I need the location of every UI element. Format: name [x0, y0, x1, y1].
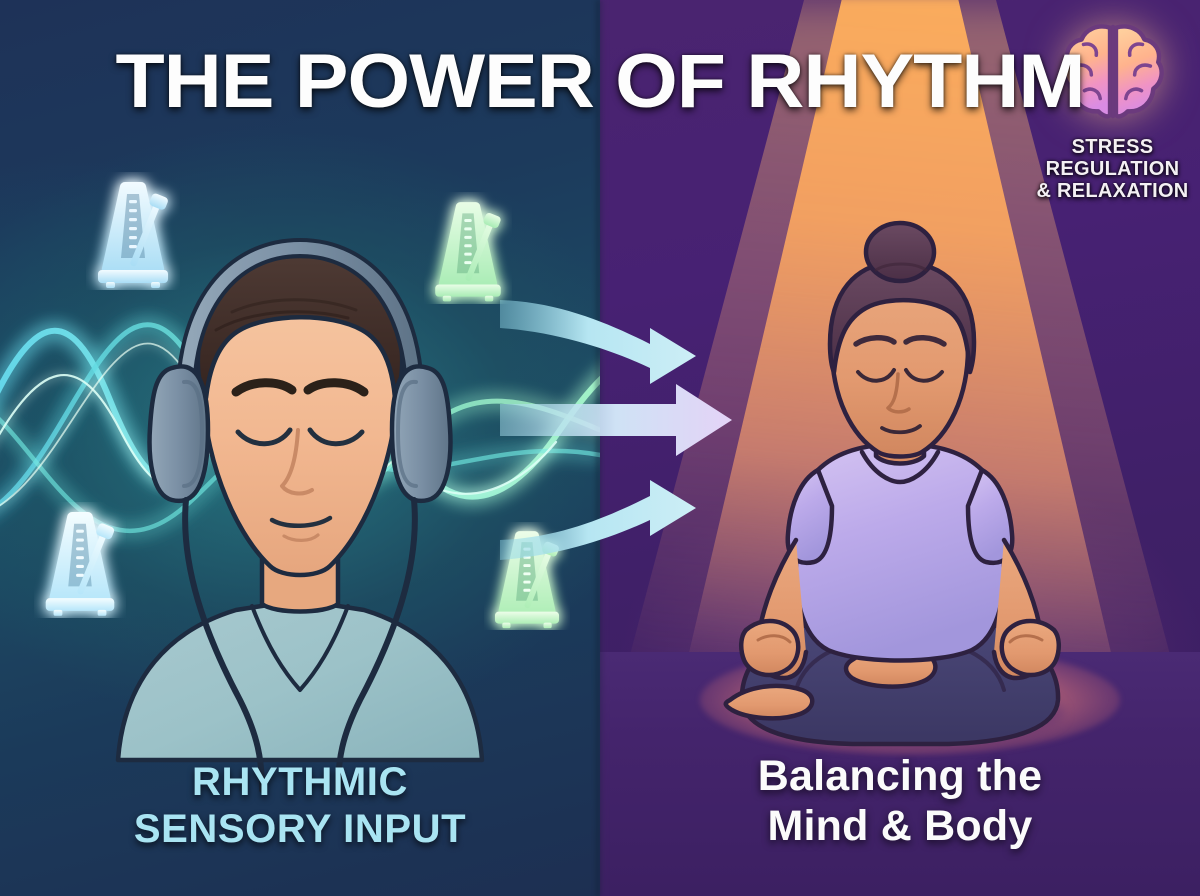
arrow-bottom [500, 480, 696, 560]
left-panel-caption: RHYTHMIC SENSORY INPUT [0, 759, 600, 852]
page-title: THE POWER OF RHYTHM [0, 38, 1200, 125]
arrow-top [500, 300, 696, 384]
stress-regulation-label: STRESS REGULATION & RELAXATION [1025, 136, 1200, 202]
right-panel-caption: Balancing the Mind & Body [600, 752, 1200, 852]
transfer-arrows [500, 280, 790, 560]
infographic-poster: RHYTHMIC SENSORY INPUT [0, 0, 1200, 896]
arrow-middle [500, 384, 732, 456]
